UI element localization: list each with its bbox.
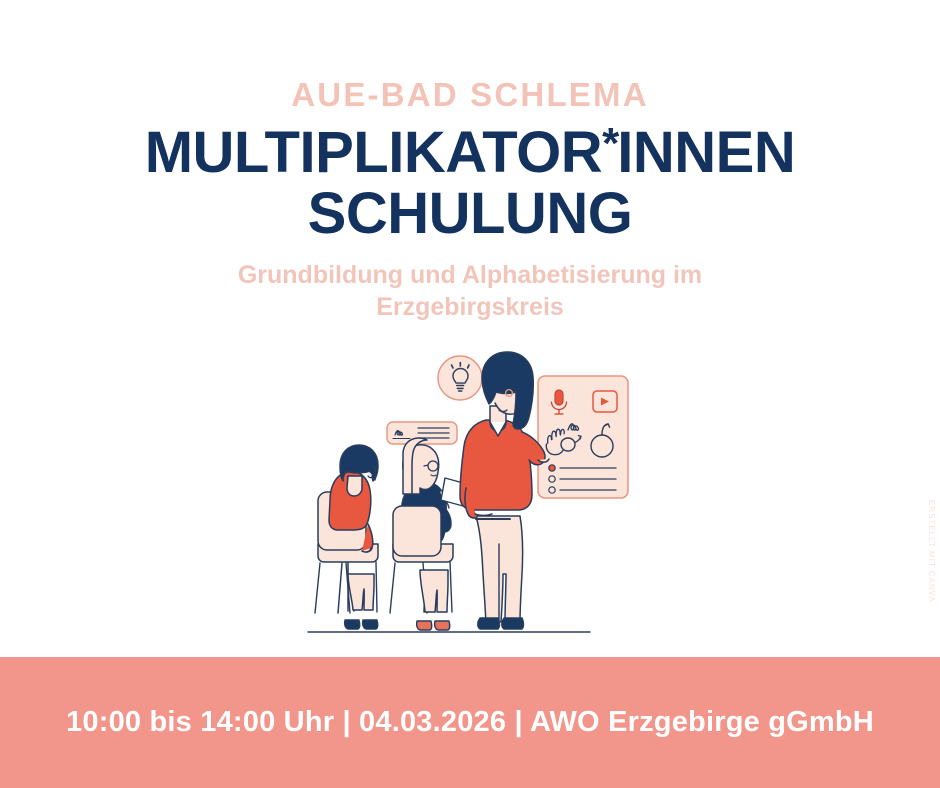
seated-participant-right [390,438,467,630]
training-workshop-illustration [290,348,650,648]
title-line-2: SCHULUNG [0,183,940,244]
poster-canvas: AUE-BAD SCHLEMA MULTIPLIKATOR*INNEN SCHU… [0,0,940,788]
event-details-text: 10:00 bis 14:00 Uhr | 04.03.2026 | AWO E… [66,706,874,739]
page-title: MULTIPLIKATOR*INNEN SCHULUNG [0,121,940,245]
seated-participant-left [315,445,378,629]
header-block: AUE-BAD SCHLEMA MULTIPLIKATOR*INNEN SCHU… [0,78,940,323]
title-word-innen: INNEN [617,120,795,185]
title-line-1: MULTIPLIKATOR*INNEN [0,121,940,183]
location-eyebrow: AUE-BAD SCHLEMA [0,78,940,113]
canva-watermark: ERSTELLT MIT CANVA [927,500,936,603]
gender-star-glyph: * [602,121,617,168]
idea-lightbulb-badge [438,356,482,400]
event-details-banner: 10:00 bis 14:00 Uhr | 04.03.2026 | AWO E… [0,657,940,788]
subtitle-text: Grundbildung und Alphabetisierung im Erz… [170,259,770,323]
title-word-multiplikator: MULTIPLIKATOR [145,120,602,185]
whiteboard [538,376,628,498]
